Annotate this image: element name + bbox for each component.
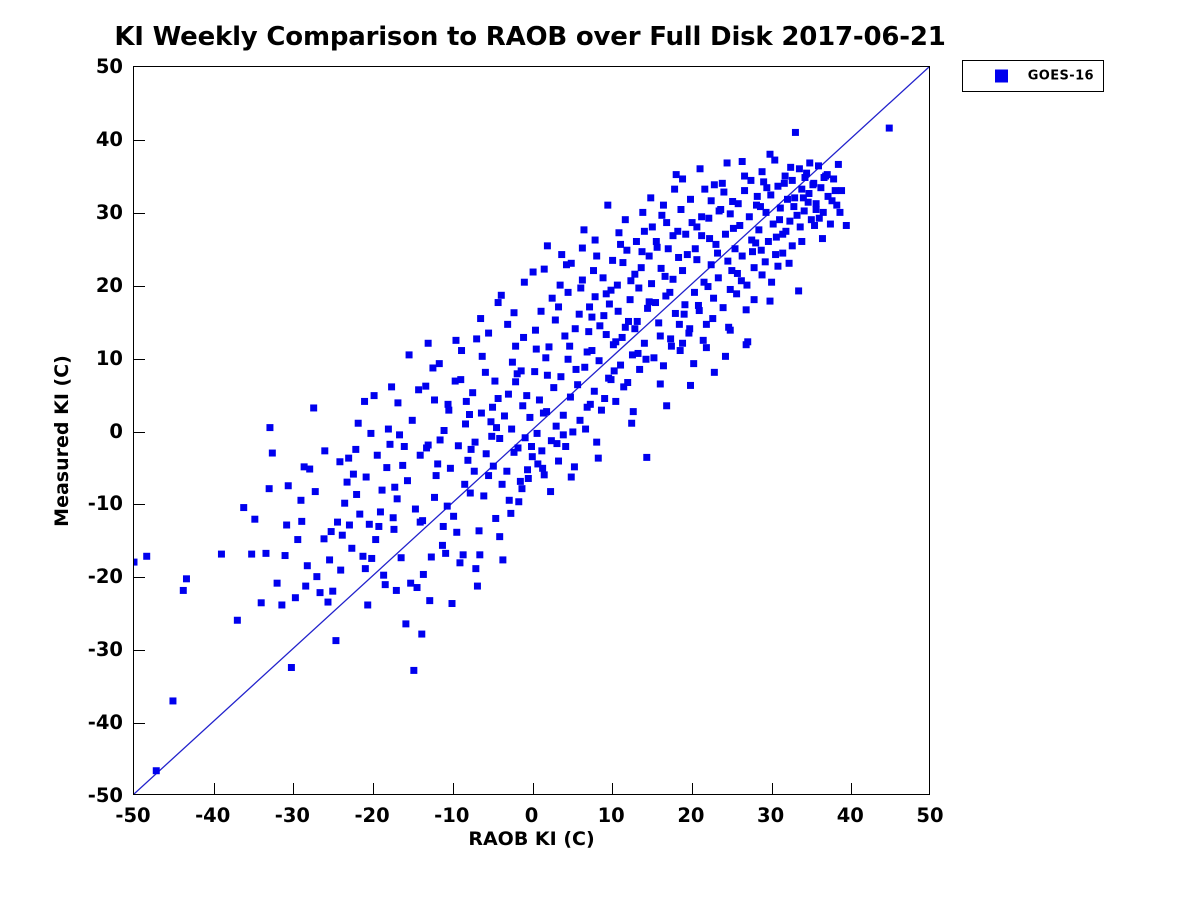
data-point — [805, 199, 812, 206]
legend-swatch-icon — [995, 70, 1008, 83]
data-point — [572, 325, 579, 332]
data-point — [301, 463, 308, 470]
data-point — [635, 285, 642, 292]
data-point — [489, 404, 496, 411]
data-point — [715, 274, 722, 281]
x-axis-tick-label: 10 — [576, 804, 646, 827]
data-point — [782, 228, 789, 235]
data-point — [600, 312, 607, 319]
data-point — [422, 383, 429, 390]
data-point — [266, 424, 273, 431]
data-point — [495, 395, 502, 402]
data-point — [672, 310, 679, 317]
data-point — [536, 396, 543, 403]
data-point — [638, 264, 645, 271]
data-point — [776, 216, 783, 223]
data-point — [538, 447, 545, 454]
data-point — [676, 321, 683, 328]
data-point — [673, 171, 680, 178]
data-point — [555, 458, 562, 465]
data-point — [684, 251, 691, 258]
data-point — [483, 450, 490, 457]
data-point — [469, 389, 476, 396]
data-point — [518, 367, 525, 374]
data-point — [623, 247, 630, 254]
data-point — [719, 180, 726, 187]
data-point — [531, 368, 538, 375]
data-point — [326, 556, 333, 563]
data-point — [274, 580, 281, 587]
data-point — [815, 162, 822, 169]
data-point — [496, 533, 503, 540]
data-point — [317, 589, 324, 596]
data-point — [368, 555, 375, 562]
data-point — [646, 253, 653, 260]
data-point — [655, 319, 662, 326]
data-point — [652, 299, 659, 306]
data-point — [528, 443, 535, 450]
data-point — [598, 407, 605, 414]
data-point — [698, 232, 705, 239]
data-point — [409, 417, 416, 424]
data-point — [533, 346, 540, 353]
data-point — [789, 177, 796, 184]
data-point — [426, 597, 433, 604]
data-point — [552, 317, 559, 324]
data-point — [577, 417, 584, 424]
x-axis-tick — [293, 783, 294, 794]
data-point — [251, 516, 258, 523]
data-point — [541, 266, 548, 273]
data-point — [801, 207, 808, 214]
data-point — [456, 559, 463, 566]
data-point — [523, 392, 530, 399]
data-point — [248, 551, 255, 558]
y-axis-tick — [134, 432, 145, 433]
data-point — [514, 444, 521, 451]
data-point — [366, 521, 373, 528]
data-point — [553, 440, 560, 447]
data-point — [615, 229, 622, 236]
data-point — [606, 301, 613, 308]
data-point — [657, 380, 664, 387]
scatter-canvas — [134, 67, 929, 794]
data-point — [693, 223, 700, 230]
data-point — [609, 257, 616, 264]
data-point — [463, 398, 470, 405]
data-point — [595, 455, 602, 462]
data-point — [657, 332, 664, 339]
data-point — [663, 219, 670, 226]
data-point — [703, 321, 710, 328]
data-point — [547, 488, 554, 495]
x-axis-tick — [373, 783, 374, 794]
data-point — [720, 304, 727, 311]
data-point — [477, 315, 484, 322]
data-point — [617, 241, 624, 248]
data-point — [473, 335, 480, 342]
data-point — [288, 664, 295, 671]
data-point — [406, 351, 413, 358]
data-point — [666, 289, 673, 296]
data-point — [759, 168, 766, 175]
data-point — [809, 181, 816, 188]
data-point — [545, 343, 552, 350]
data-point — [269, 450, 276, 457]
data-point — [586, 303, 593, 310]
data-point — [592, 237, 599, 244]
y-axis-tick-label: -20 — [61, 565, 123, 588]
data-point — [649, 223, 656, 230]
data-point — [579, 245, 586, 252]
data-point — [603, 331, 610, 338]
data-point — [283, 522, 290, 529]
data-point — [647, 194, 654, 201]
data-point — [521, 279, 528, 286]
data-points — [134, 125, 893, 775]
data-point — [817, 184, 824, 191]
data-point — [431, 396, 438, 403]
data-point — [367, 430, 374, 437]
data-point — [412, 506, 419, 513]
data-point — [449, 600, 456, 607]
data-point — [681, 301, 688, 308]
data-point — [782, 173, 789, 180]
data-point — [708, 261, 715, 268]
data-point — [555, 303, 562, 310]
page-title: KI Weekly Comparison to RAOB over Full D… — [0, 22, 1060, 52]
data-point — [282, 552, 289, 559]
data-point — [617, 362, 624, 369]
data-point — [485, 330, 492, 337]
data-point — [562, 443, 569, 450]
data-point — [332, 637, 339, 644]
data-point — [711, 369, 718, 376]
data-point — [415, 386, 422, 393]
data-point — [677, 206, 684, 213]
data-point — [757, 203, 764, 210]
data-point — [356, 511, 363, 518]
data-point — [350, 471, 357, 478]
data-point — [784, 196, 791, 203]
data-point — [752, 239, 759, 246]
data-point — [797, 223, 804, 230]
x-axis-tick-label: -30 — [257, 804, 327, 827]
data-point — [886, 125, 893, 132]
data-point — [687, 382, 694, 389]
data-point — [507, 510, 514, 517]
data-point — [442, 550, 449, 557]
data-point — [590, 267, 597, 274]
data-point — [709, 315, 716, 322]
data-point — [639, 248, 646, 255]
data-point — [294, 536, 301, 543]
data-point — [329, 588, 336, 595]
data-point — [658, 212, 665, 219]
data-point — [600, 274, 607, 281]
data-point — [671, 186, 678, 193]
data-point — [143, 553, 150, 560]
data-point — [724, 258, 731, 265]
data-point — [654, 244, 661, 251]
data-point — [767, 298, 774, 305]
data-point — [515, 498, 522, 505]
legend-label: GOES-16 — [1028, 69, 1094, 84]
data-point — [679, 175, 686, 182]
data-point — [482, 369, 489, 376]
data-point — [544, 242, 551, 249]
data-point — [363, 474, 370, 481]
data-point — [608, 376, 615, 383]
data-point — [665, 245, 672, 252]
data-point — [796, 165, 803, 172]
data-point — [722, 231, 729, 238]
data-point — [612, 398, 619, 405]
data-point — [588, 314, 595, 321]
data-point — [662, 273, 669, 280]
y-axis-tick-label: -40 — [61, 711, 123, 734]
data-point — [505, 391, 512, 398]
data-point — [701, 186, 708, 193]
data-point — [620, 383, 627, 390]
data-point — [532, 327, 539, 334]
data-point — [467, 490, 474, 497]
data-point — [798, 186, 805, 193]
data-point — [525, 475, 532, 482]
data-point — [758, 247, 765, 254]
data-point — [755, 226, 762, 233]
data-point — [827, 221, 834, 228]
data-point — [580, 226, 587, 233]
data-point — [592, 293, 599, 300]
data-point — [461, 481, 468, 488]
data-point — [704, 283, 711, 290]
data-point — [377, 508, 384, 515]
data-point — [636, 366, 643, 373]
data-point — [579, 277, 586, 284]
data-point — [445, 407, 452, 414]
x-axis-tick — [772, 783, 773, 794]
data-point — [524, 466, 531, 473]
data-point — [383, 464, 390, 471]
x-axis-tick-label: -50 — [98, 804, 168, 827]
data-point — [557, 373, 564, 380]
data-point — [549, 295, 556, 302]
data-point — [262, 550, 269, 557]
y-axis-tick — [134, 504, 145, 505]
data-point — [685, 330, 692, 337]
data-point — [431, 494, 438, 501]
data-point — [619, 259, 626, 266]
data-point — [771, 157, 778, 164]
x-axis-tick — [851, 783, 852, 794]
data-point — [611, 367, 618, 374]
data-point — [266, 485, 273, 492]
data-point — [452, 337, 459, 344]
data-point — [648, 280, 655, 287]
data-point — [560, 431, 567, 438]
data-point — [591, 388, 598, 395]
x-axis-tick-label: 0 — [497, 804, 567, 827]
data-point — [711, 181, 718, 188]
data-point — [471, 468, 478, 475]
data-point — [615, 308, 622, 315]
data-point — [509, 359, 516, 366]
data-point — [792, 129, 799, 136]
data-point — [458, 347, 465, 354]
data-point — [468, 446, 475, 453]
data-point — [751, 296, 758, 303]
data-point — [622, 216, 629, 223]
data-point — [492, 515, 499, 522]
data-point — [639, 209, 646, 216]
data-point — [501, 412, 508, 419]
data-point — [503, 468, 510, 475]
data-point — [493, 424, 500, 431]
data-point — [787, 164, 794, 171]
data-point — [614, 282, 621, 289]
data-point — [447, 465, 454, 472]
data-point — [747, 177, 754, 184]
data-point — [585, 328, 592, 335]
data-point — [749, 248, 756, 255]
data-point — [582, 426, 589, 433]
data-point — [476, 551, 483, 558]
data-point — [643, 454, 650, 461]
data-point — [522, 434, 529, 441]
data-point — [374, 452, 381, 459]
data-point — [774, 263, 781, 270]
data-point — [560, 412, 567, 419]
data-point — [770, 221, 777, 228]
data-point — [786, 218, 793, 225]
data-point — [490, 463, 497, 470]
y-axis-tick-label: -30 — [61, 638, 123, 661]
y-axis-tick-label: 40 — [61, 128, 123, 151]
data-point — [627, 277, 634, 284]
data-point — [714, 250, 721, 257]
data-point — [418, 631, 425, 638]
data-point — [739, 253, 746, 260]
data-point — [679, 267, 686, 274]
data-point — [466, 411, 473, 418]
x-axis-tick-label: 40 — [815, 804, 885, 827]
data-point — [710, 295, 717, 302]
data-point — [542, 354, 549, 361]
data-point — [691, 289, 698, 296]
data-point — [801, 174, 808, 181]
data-point — [534, 430, 541, 437]
data-point — [705, 215, 712, 222]
data-point — [401, 443, 408, 450]
data-point — [695, 302, 702, 309]
data-point — [518, 485, 525, 492]
data-point — [428, 554, 435, 561]
data-point — [328, 528, 335, 535]
legend: GOES-16 — [962, 60, 1104, 92]
data-point — [759, 271, 766, 278]
data-point — [708, 197, 715, 204]
data-point — [218, 551, 225, 558]
data-point — [735, 200, 742, 207]
data-point — [703, 344, 710, 351]
data-point — [512, 343, 519, 350]
data-point — [561, 332, 568, 339]
data-point — [576, 311, 583, 318]
data-point — [398, 554, 405, 561]
legend-entry-goes16: GOES-16 — [963, 61, 1103, 91]
x-axis-tick-label: -10 — [417, 804, 487, 827]
data-point — [348, 545, 355, 552]
data-point — [495, 299, 502, 306]
data-point — [838, 187, 845, 194]
data-point — [568, 260, 575, 267]
data-point — [574, 381, 581, 388]
data-point — [634, 318, 641, 325]
data-point — [720, 189, 727, 196]
data-point — [478, 410, 485, 417]
data-point — [824, 171, 831, 178]
data-point — [437, 436, 444, 443]
data-point — [727, 286, 734, 293]
data-point — [722, 353, 729, 360]
data-point — [763, 184, 770, 191]
data-point — [321, 447, 328, 454]
data-point — [738, 277, 745, 284]
data-point — [474, 583, 481, 590]
data-point — [506, 497, 513, 504]
data-point — [530, 269, 537, 276]
data-point — [670, 232, 677, 239]
data-point — [687, 196, 694, 203]
data-point — [364, 601, 371, 608]
data-point — [404, 477, 411, 484]
data-point — [298, 518, 305, 525]
data-point — [180, 587, 187, 594]
x-axis-tick-label: -20 — [337, 804, 407, 827]
data-point — [706, 235, 713, 242]
data-point — [728, 267, 735, 274]
data-point — [819, 235, 826, 242]
data-point — [479, 353, 486, 360]
data-point — [258, 599, 265, 606]
data-point — [425, 340, 432, 347]
data-point — [786, 260, 793, 267]
data-point — [835, 161, 842, 168]
data-point — [724, 159, 731, 166]
data-point — [581, 364, 588, 371]
data-point — [631, 271, 638, 278]
data-point — [587, 401, 594, 408]
y-axis-tick-label: 50 — [61, 55, 123, 78]
data-point — [670, 276, 677, 283]
data-point — [630, 408, 637, 415]
data-point — [569, 428, 576, 435]
plot-area — [133, 66, 930, 795]
data-point — [520, 334, 527, 341]
data-point — [410, 667, 417, 674]
data-point — [557, 282, 564, 289]
y-axis-tick — [134, 723, 145, 724]
data-point — [741, 173, 748, 180]
data-point — [380, 572, 387, 579]
data-point — [641, 228, 648, 235]
data-point — [346, 522, 353, 529]
data-point — [375, 523, 382, 530]
data-point — [444, 503, 451, 510]
data-point — [183, 575, 190, 582]
data-point — [830, 175, 837, 182]
